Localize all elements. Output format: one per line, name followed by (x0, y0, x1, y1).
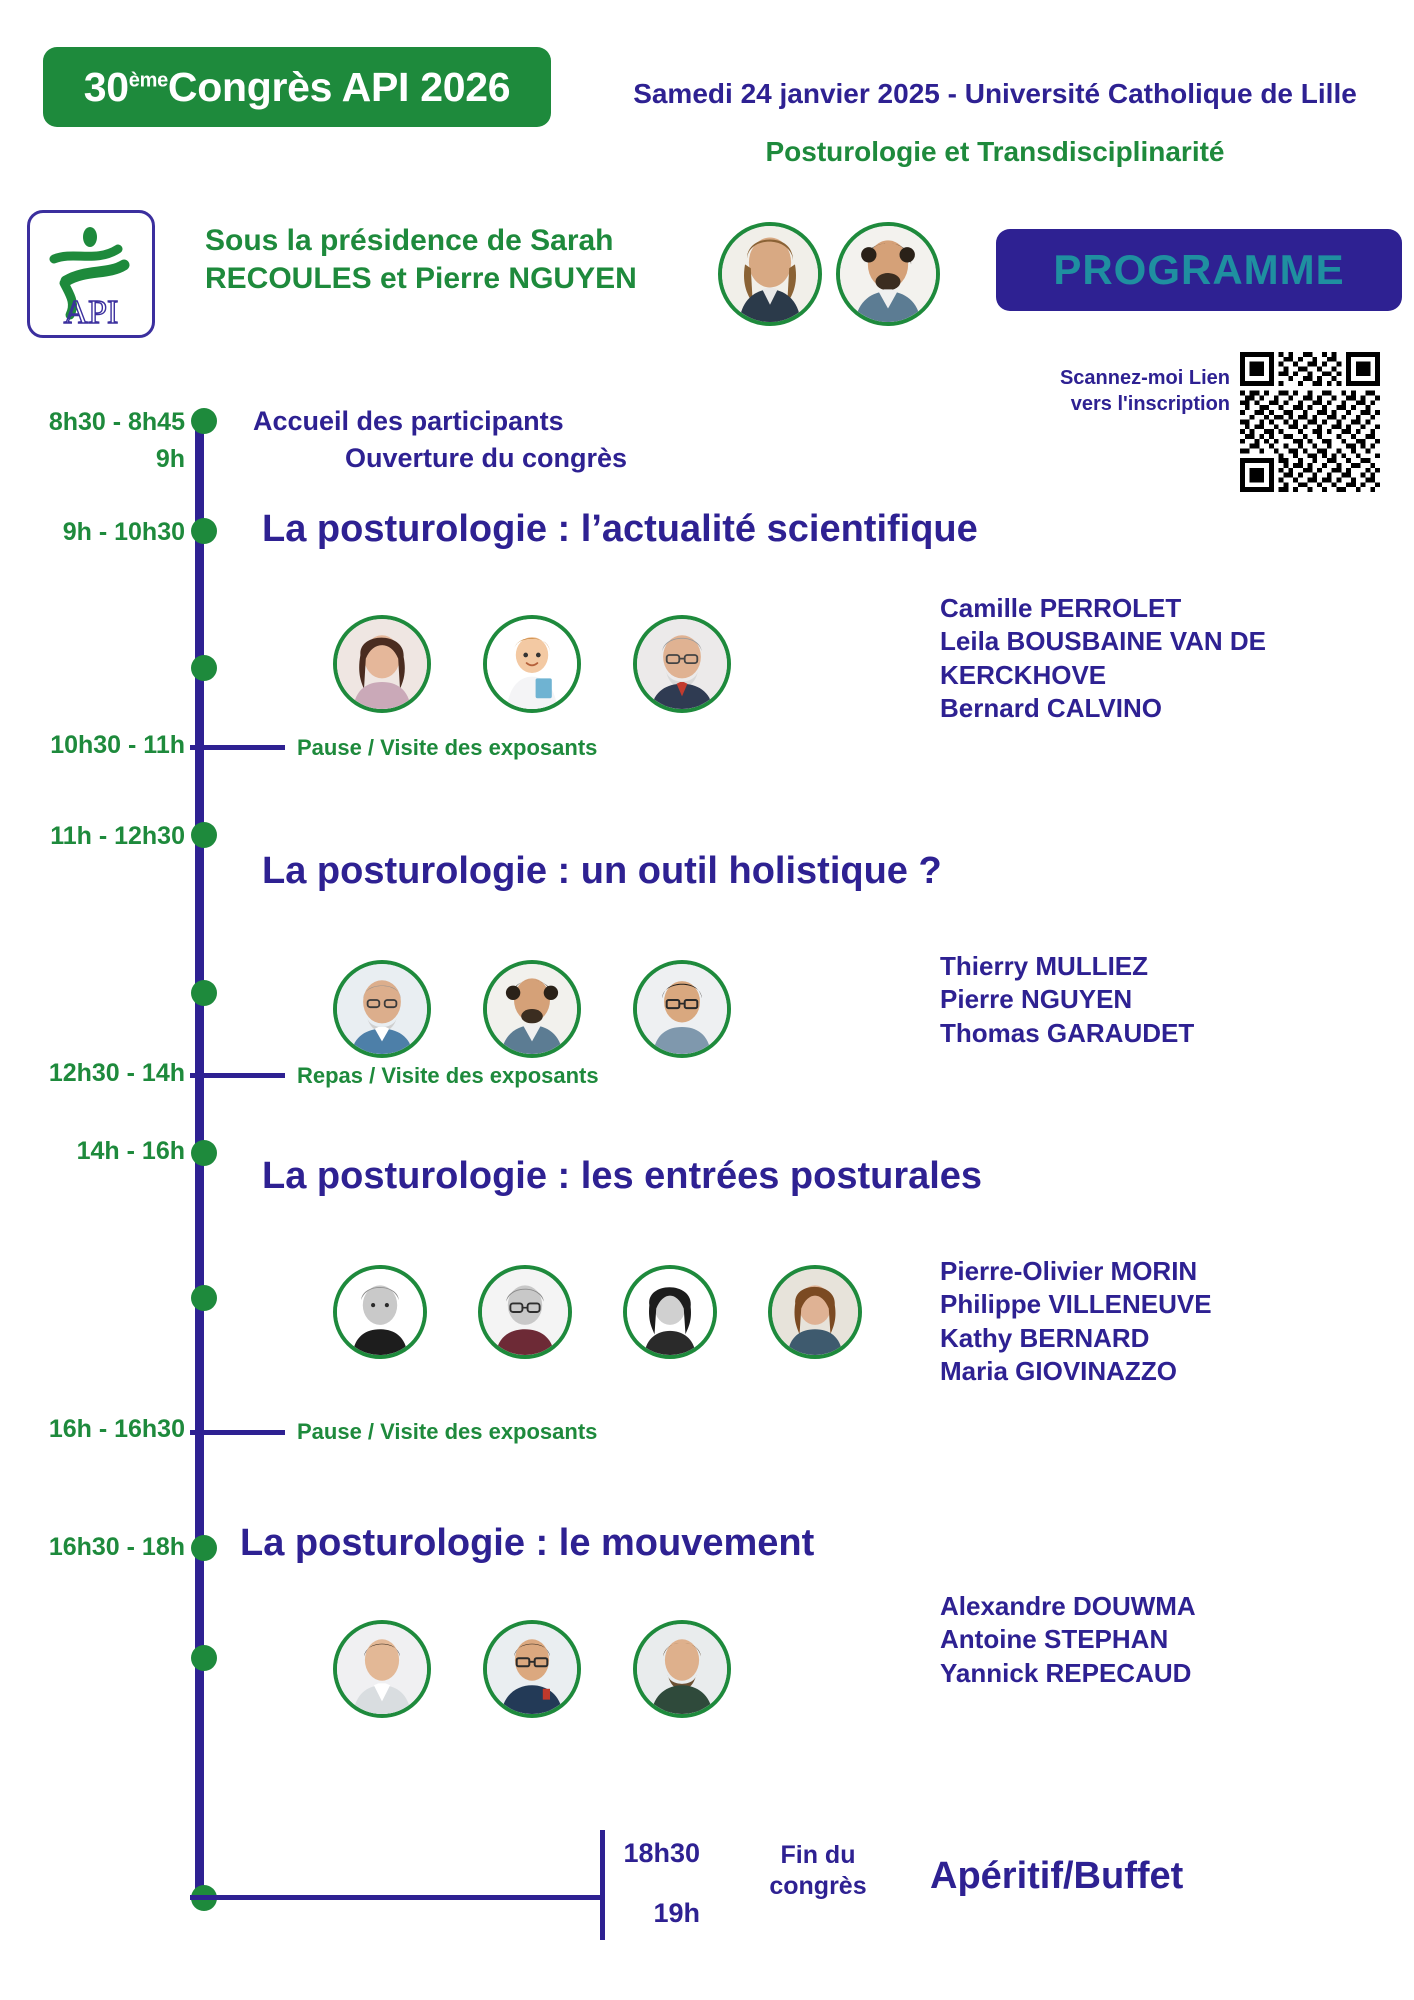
time-session-1: 9h - 10h30 (0, 518, 185, 547)
time-opening-2: 9h (0, 445, 185, 474)
avatar-speaker-3-3 (623, 1265, 717, 1359)
time-session-2: 11h - 12h30 (0, 822, 185, 851)
congress-ordinal-number: 30 (84, 64, 129, 110)
session-title-1: La posturologie : l’actualité scientifiq… (262, 508, 978, 551)
api-logo-text: API (64, 294, 119, 331)
timeline-node-session-4-end (191, 1645, 217, 1671)
api-logo: API (27, 210, 155, 338)
timeline-node-session-1-end (191, 655, 217, 681)
avatar-speaker-3-4 (768, 1265, 862, 1359)
time-session-4: 16h30 - 18h (0, 1533, 185, 1562)
time-break-1: 10h30 - 11h (0, 731, 185, 760)
avatar-speaker-1-3 (633, 615, 731, 713)
avatar-president-1 (718, 222, 822, 326)
timeline-node-session-2-start (191, 822, 217, 848)
avatar-speaker-2-2 (483, 960, 581, 1058)
time-session-3: 14h - 16h (0, 1137, 185, 1166)
speaker-name: Kathy BERNARD (940, 1322, 1360, 1355)
speaker-list-2: Thierry MULLIEZ Pierre NGUYEN Thomas GAR… (940, 950, 1360, 1050)
qr-caption: Scannez-moi Lien vers l'inscription (1040, 365, 1230, 418)
event-theme-subtitle: Posturologie et Transdisciplinarité (600, 136, 1390, 168)
speaker-list-4: Alexandre DOUWMA Antoine STEPHAN Yannick… (940, 1590, 1360, 1690)
avatar-speaker-1-2 (483, 615, 581, 713)
speaker-name: Thierry MULLIEZ (940, 950, 1360, 983)
congress-name: Congrès API 2026 (168, 64, 510, 110)
time-break-2: 12h30 - 14h (0, 1059, 185, 1088)
avatar-speaker-3-2 (478, 1265, 572, 1359)
time-closing-1: 18h30 (600, 1838, 700, 1869)
congress-title-badge: 30èmeCongrès API 2026 (43, 47, 551, 127)
session-title-2: La posturologie : un outil holistique ? (262, 850, 942, 893)
break-label-1: Pause / Visite des exposants (297, 735, 597, 761)
time-closing-2: 19h (600, 1898, 700, 1929)
time-break-3: 16h - 16h30 (0, 1415, 185, 1444)
avatar-speaker-2-3 (633, 960, 731, 1058)
timeline-branch-break-1 (190, 745, 285, 750)
avatar-speaker-4-1 (333, 1620, 431, 1718)
programme-label: PROGRAMME (1053, 246, 1344, 294)
congress-ordinal-suffix: ème (129, 69, 168, 91)
speaker-name: Bernard CALVINO (940, 692, 1360, 725)
avatar-speaker-4-2 (483, 1620, 581, 1718)
closing-label: Fin du congrès (738, 1840, 898, 1903)
programme-badge: PROGRAMME (996, 229, 1402, 311)
speaker-name: Pierre-Olivier MORIN (940, 1255, 1360, 1288)
event-accueil: Accueil des participants (253, 406, 564, 437)
timeline-node-session-4-start (191, 1535, 217, 1561)
session-title-3: La posturologie : les entrées posturales (262, 1155, 982, 1198)
session-title-4: La posturologie : le mouvement (240, 1522, 814, 1565)
timeline-node-session-3-end (191, 1285, 217, 1311)
event-date-location: Samedi 24 janvier 2025 - Université Cath… (600, 78, 1390, 110)
presidency-text: Sous la présidence de Sarah RECOULES et … (205, 222, 685, 299)
avatar-president-2 (836, 222, 940, 326)
timeline-node-session-3-start (191, 1140, 217, 1166)
congress-title-text: 30èmeCongrès API 2026 (84, 64, 510, 111)
timeline-branch-closing-horizontal (190, 1895, 605, 1900)
speaker-list-3: Pierre-Olivier MORIN Philippe VILLENEUVE… (940, 1255, 1360, 1388)
timeline-node-session-1-start (191, 518, 217, 544)
qr-code[interactable] (1240, 352, 1380, 492)
timeline-node-opening (191, 408, 217, 434)
timeline-node-session-2-end (191, 980, 217, 1006)
speaker-name: Leila BOUSBAINE VAN DE KERCKHOVE (940, 625, 1360, 692)
time-opening-1: 8h30 - 8h45 (0, 408, 185, 437)
speaker-name: Thomas GARAUDET (940, 1017, 1360, 1050)
speaker-list-1: Camille PERROLET Leila BOUSBAINE VAN DE … (940, 592, 1360, 725)
timeline-branch-break-2 (190, 1073, 285, 1078)
speaker-name: Antoine STEPHAN (940, 1623, 1360, 1656)
timeline-branch-break-3 (190, 1430, 285, 1435)
avatar-speaker-2-1 (333, 960, 431, 1058)
avatar-speaker-1-1 (333, 615, 431, 713)
speaker-name: Maria GIOVINAZZO (940, 1355, 1360, 1388)
break-label-2: Repas / Visite des exposants (297, 1063, 599, 1089)
speaker-name: Philippe VILLENEUVE (940, 1288, 1360, 1321)
avatar-speaker-3-1 (333, 1265, 427, 1359)
speaker-name: Yannick REPECAUD (940, 1657, 1360, 1690)
avatar-speaker-4-3 (633, 1620, 731, 1718)
break-label-3: Pause / Visite des exposants (297, 1419, 597, 1445)
aperitif-label: Apéritif/Buffet (930, 1855, 1183, 1898)
speaker-name: Pierre NGUYEN (940, 983, 1360, 1016)
event-ouverture: Ouverture du congrès (345, 443, 627, 474)
speaker-name: Alexandre DOUWMA (940, 1590, 1360, 1623)
speaker-name: Camille PERROLET (940, 592, 1360, 625)
